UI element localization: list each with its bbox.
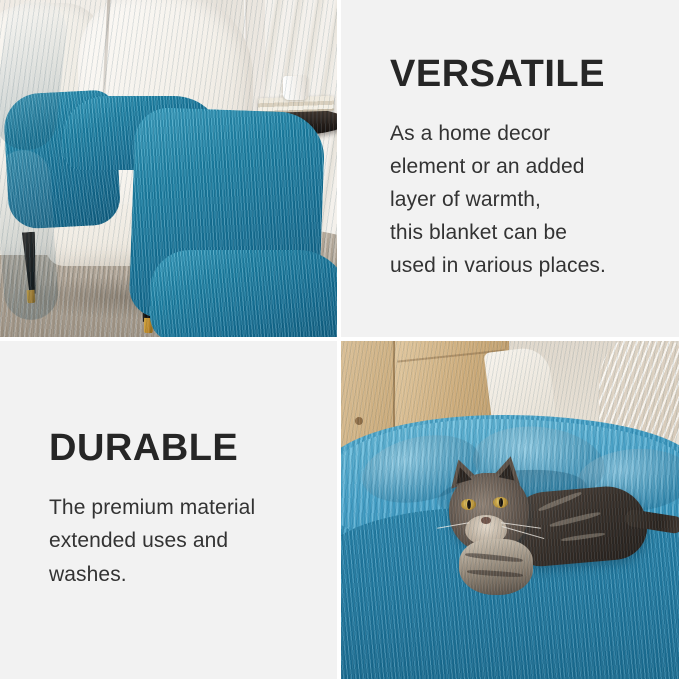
cat-on-blanket-photo — [341, 341, 679, 679]
body-line: As a home decor — [390, 117, 653, 150]
cat-ear-inner — [499, 463, 518, 481]
versatile-text-panel: VERSATILE As a home decor element or an … — [341, 0, 679, 337]
body-line: this blanket can be — [390, 216, 653, 249]
cat-chest — [459, 539, 533, 595]
body-line: element or an added — [390, 150, 653, 183]
versatile-headline: VERSATILE — [390, 55, 653, 95]
product-infographic: VERSATILE As a home decor element or an … — [0, 0, 679, 679]
cat-pupil — [499, 498, 503, 507]
throw-blanket-pooled-hem — [150, 250, 337, 337]
durable-headline: DURABLE — [49, 429, 307, 469]
body-line: used in various places. — [390, 249, 653, 282]
cat-nose — [481, 517, 491, 524]
cat-pupil — [467, 500, 471, 509]
nightstand-knob — [355, 417, 363, 425]
durable-text-panel: DURABLE The premium material extended us… — [0, 341, 337, 679]
body-line: layer of warmth, — [390, 183, 653, 216]
body-line: The premium material — [49, 491, 307, 524]
body-line: washes. — [49, 558, 307, 591]
durable-body: The premium material extended uses and w… — [49, 491, 307, 591]
coffee-mug — [283, 76, 308, 100]
body-line: extended uses and — [49, 524, 307, 557]
living-room-photo — [0, 0, 337, 337]
versatile-body: As a home decor element or an added laye… — [390, 117, 653, 283]
